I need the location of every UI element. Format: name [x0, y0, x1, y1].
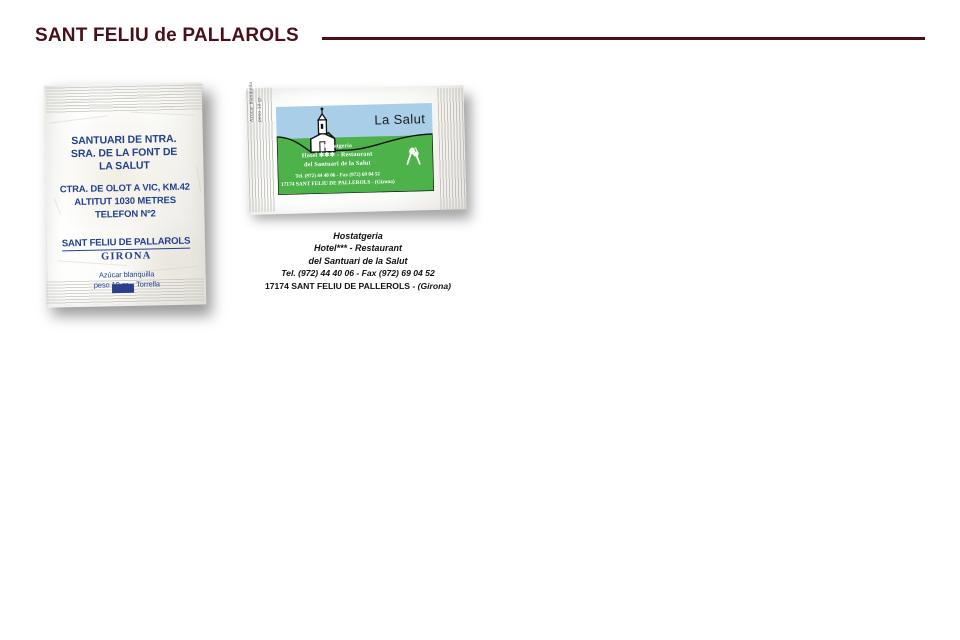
caption-line-santuari: del Santuari de la Salut: [247, 255, 469, 267]
santuari-province-line: GIRONA: [47, 249, 205, 263]
packet-printed-text: SANTUARI DE NTRA. SRA. DE LA FONT DE LA …: [44, 82, 207, 307]
santuari-heading-line-3: LA SALUT: [45, 158, 203, 173]
crossed-cutlery-icon: [403, 147, 424, 170]
sugar-packet-photo-la-salut: Azúcar blanquilla peso 10 gr. La Salut H…: [247, 88, 469, 216]
page-header: SANT FELIU de PALLAROLS: [0, 0, 960, 60]
packet-edge-text-product: Azúcar blanquilla: [248, 66, 254, 122]
santuari-town-line: SANT FELIU DE PALLAROLS: [62, 236, 191, 252]
caption-line-address: 17174 SANT FELIU DE PALLEROLS - (Girona): [247, 280, 469, 292]
la-salut-label: La Salut Hostatgeria Hotel ✱✱✱ - Restaur…: [276, 103, 434, 195]
la-salut-brand-text: La Salut: [374, 111, 425, 127]
santuari-phone-line: TELEFON Nº2: [46, 206, 204, 220]
packet-right-seal-band: [437, 88, 466, 213]
title-divider-rule: [322, 37, 925, 40]
sugar-packet-photo-santuari: SANTUARI DE NTRA. SRA. DE LA FONT DE LA …: [46, 84, 206, 310]
santuari-road-line: CTRA. DE OLOT A VIC, KM.42: [46, 180, 204, 194]
packet-two-caption: Hostatgeria Hotel*** - Restaurant del Sa…: [247, 230, 469, 292]
santuari-altitude-line: ALTITUT 1030 METRES: [46, 193, 204, 207]
caption-line-telephone: Tel. (972) 44 40 06 - Fax (972) 69 04 52: [247, 267, 469, 279]
packet-edge-text-weight: peso 10 gr.: [256, 66, 262, 122]
packet-blue-marker-box: [112, 284, 134, 293]
caption-address-prefix: 17174 SANT FELIU DE PALLEROLS -: [265, 281, 418, 291]
page-title: SANT FELIU de PALLAROLS: [35, 25, 299, 47]
caption-address-province: (Girona): [418, 281, 451, 291]
caption-line-hostatgeria: Hostatgeria: [247, 230, 469, 242]
caption-line-hotel: Hotel*** - Restaurant: [247, 242, 469, 254]
